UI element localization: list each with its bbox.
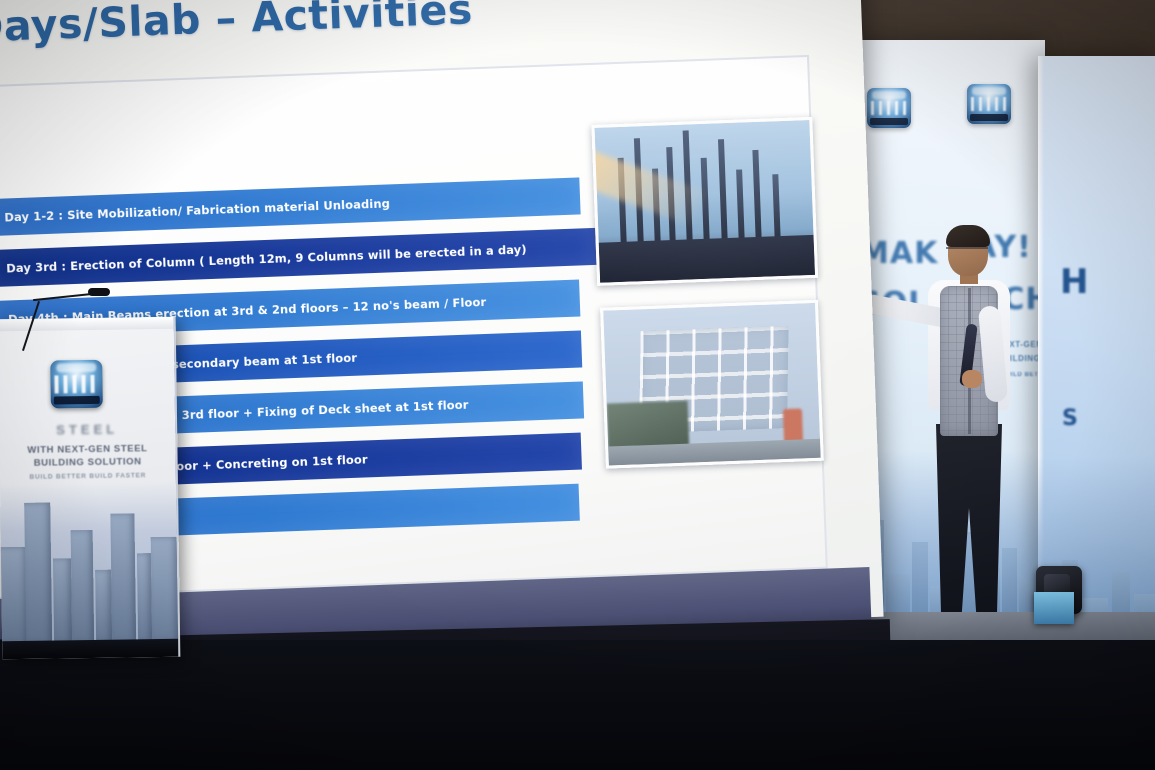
podium-skyline-graphic xyxy=(0,482,178,659)
backdrop-right-letter-bottom: S xyxy=(1062,406,1078,431)
podium-base xyxy=(2,639,178,659)
photo-worker xyxy=(783,409,803,444)
speaker xyxy=(900,228,1040,648)
logo-text-block xyxy=(971,97,1008,111)
activity-bar-1: Day 1-2 : Site Mobilization/ Fabrication… xyxy=(0,177,581,236)
activity-bar-2: Day 3rd : Erection of Column ( Length 12… xyxy=(0,228,596,287)
podium-brand-name: STEEL xyxy=(0,421,175,438)
presentation-stage-photo: MAK AY! SOL UCH NEXT-GEN STEEL BUILDING … xyxy=(0,0,1155,770)
logo-text-block xyxy=(871,101,908,115)
logo-cap xyxy=(972,87,1005,95)
backdrop-logo-right xyxy=(967,84,1011,124)
logo-text-block xyxy=(55,375,99,393)
speaker-right-hand xyxy=(962,370,982,388)
logo-cap xyxy=(56,363,96,373)
speaker-hair xyxy=(946,225,990,247)
backdrop-right-letter-top: H xyxy=(1060,262,1088,302)
logo-base xyxy=(870,118,909,125)
logo-base xyxy=(970,114,1009,121)
podium: STEEL WITH NEXT-GEN STEEL BUILDING SOLUT… xyxy=(0,317,180,659)
backdrop-panel-right: H S xyxy=(1038,56,1155,646)
podium-microphone-icon xyxy=(88,288,110,296)
steel-frame-building-photo xyxy=(600,300,824,469)
podium-top-edge xyxy=(0,317,174,331)
speaker-legs xyxy=(936,424,1002,624)
steel-column-erection-photo xyxy=(591,117,818,286)
podium-tagline-line-2: BUILDING SOLUTION xyxy=(0,456,176,469)
stage-front-dark-area xyxy=(0,640,1155,770)
photo-ground xyxy=(599,235,815,283)
podium-logo xyxy=(50,360,103,409)
podium-tagline-line-1: WITH NEXT-GEN STEEL xyxy=(0,443,176,456)
speaker-glasses-icon xyxy=(946,247,988,256)
podium-slogan: BUILD BETTER BUILD FASTER xyxy=(0,472,176,481)
slide-title: Days/Slab – Activities xyxy=(0,0,473,52)
logo-base xyxy=(54,395,100,404)
stage-monitor-box xyxy=(1034,592,1074,624)
backdrop-logo-left xyxy=(867,88,911,128)
logo-cap xyxy=(872,91,905,99)
